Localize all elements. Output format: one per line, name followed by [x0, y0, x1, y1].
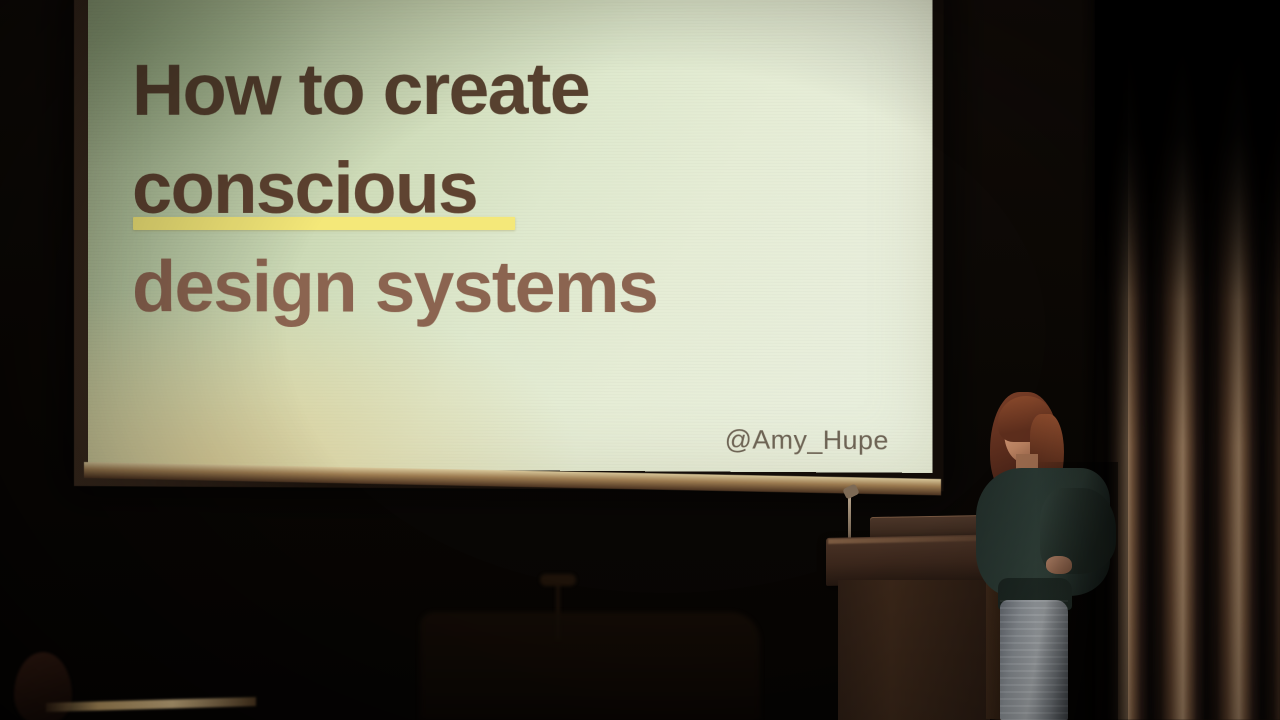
slide-line-2: conscious [132, 139, 477, 238]
stage-equipment-cap [540, 574, 576, 586]
speaker-hand [1046, 556, 1072, 574]
speaker-handle: @Amy_Hupe [725, 424, 889, 456]
slide-text-block: How to create conscious design systems [132, 38, 866, 338]
slide-line-3: design systems [132, 238, 866, 338]
speaker-figure [968, 392, 1118, 720]
speaker-jeans [1000, 600, 1068, 720]
slide-line-1: How to create [132, 38, 866, 139]
highlight-underline [133, 217, 515, 230]
projection-screen: How to create conscious design systems @… [88, 0, 933, 473]
stage-scene: How to create conscious design systems @… [0, 0, 1280, 720]
gooseneck-microphone-stem [848, 494, 851, 542]
stage-equipment-silhouette [420, 612, 760, 720]
